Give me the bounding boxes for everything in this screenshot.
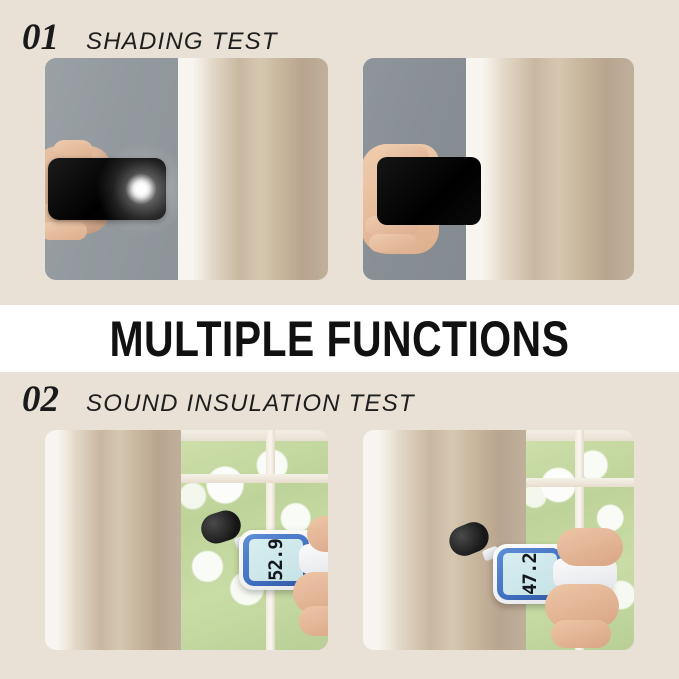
section-header-01: 01 SHADING TEST	[22, 19, 278, 56]
photo-panel-sound-before: 52.9	[45, 430, 328, 650]
scene-sound-after: 47.2	[363, 430, 634, 650]
section-header-02: 02 SOUND INSULATION TEST	[22, 381, 415, 418]
curtain-sheen	[45, 430, 181, 650]
finger	[299, 606, 328, 636]
curtain-sheen	[178, 58, 328, 280]
meter-display: 52.9	[249, 539, 303, 581]
section-label-01: SHADING TEST	[86, 30, 278, 54]
section-number-01: 01	[22, 19, 59, 56]
flashlight-icon	[126, 174, 156, 204]
meter-reading: 47.2	[519, 553, 541, 595]
meter-display: 47.2	[503, 553, 557, 595]
main-title-band: MULTIPLE FUNCTIONS	[0, 305, 679, 372]
finger	[369, 234, 417, 252]
photo-panel-shading-before	[45, 58, 328, 280]
section-number-02: 02	[22, 381, 59, 418]
photo-panel-sound-after: 47.2	[363, 430, 634, 650]
section-label-02: SOUND INSULATION TEST	[86, 392, 415, 416]
hand	[557, 528, 623, 566]
photo-panel-shading-after	[363, 58, 634, 280]
curtain-sheen	[466, 58, 634, 280]
main-title: MULTIPLE FUNCTIONS	[110, 310, 570, 368]
infographic-root: 01 SHADING TEST	[0, 0, 679, 679]
curtain-fabric	[466, 58, 634, 280]
window-mullion-horizontal	[526, 478, 634, 487]
meter-reading: 52.9	[265, 539, 287, 581]
curtain-fabric	[363, 430, 526, 650]
scene-shading-after	[363, 58, 634, 280]
finger	[45, 222, 87, 240]
smartphone	[377, 157, 481, 225]
window-frame-top	[181, 430, 328, 441]
curtain-fabric	[45, 430, 181, 650]
smartphone	[48, 158, 166, 220]
curtain-fabric	[178, 58, 328, 280]
scene-sound-before: 52.9	[45, 430, 328, 650]
finger	[551, 620, 611, 648]
curtain-sheen	[363, 430, 526, 650]
scene-shading-before	[45, 58, 328, 280]
window-mullion-horizontal	[181, 474, 328, 483]
